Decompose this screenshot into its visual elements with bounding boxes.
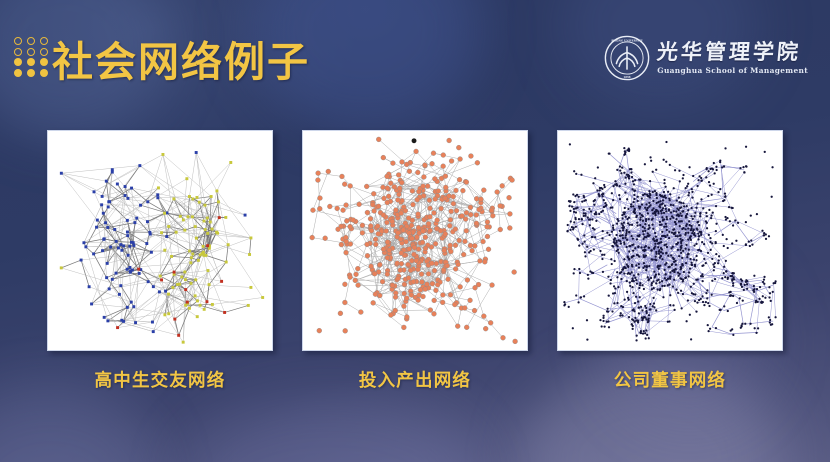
- background-blob: [0, 390, 160, 462]
- peking-university-seal-icon: PEKING UNIVERSITY 1898: [604, 35, 650, 81]
- panel-caption: 公司董事网络: [614, 367, 726, 392]
- dot-grid-icon: [13, 37, 49, 77]
- network-examples-row: 高中生交友网络 投入产出网络 公司董事网络: [47, 130, 783, 392]
- network-diagram-frame: [557, 130, 783, 351]
- corporate-board-network-diagram: [558, 131, 782, 350]
- high-school-friendship-network-diagram: [48, 131, 272, 350]
- logo-name-en: Guanghua School of Management: [657, 66, 808, 75]
- logo-text-block: 光华管理学院 Guanghua School of Management: [657, 41, 808, 75]
- logo-name-cn: 光华管理学院: [656, 41, 809, 63]
- background-blob: [180, 395, 480, 462]
- panel-caption: 投入产出网络: [359, 367, 471, 392]
- network-diagram-frame: [302, 130, 528, 351]
- network-panel-friendship[interactable]: 高中生交友网络: [47, 130, 273, 392]
- input-output-network-diagram: [303, 131, 527, 350]
- network-diagram-frame: [47, 130, 273, 351]
- network-panel-input-output[interactable]: 投入产出网络: [302, 130, 528, 392]
- slide-canvas: 社会网络例子 PEKING UNIVERSITY 1898 光华管理学院: [0, 0, 830, 462]
- network-panel-board[interactable]: 公司董事网络: [557, 130, 783, 392]
- svg-text:PEKING UNIVERSITY: PEKING UNIVERSITY: [612, 39, 644, 42]
- guanghua-logo: PEKING UNIVERSITY 1898 光华管理学院 Guanghua S…: [604, 32, 808, 84]
- svg-text:1898: 1898: [624, 76, 631, 79]
- page-title: 社会网络例子: [52, 28, 310, 88]
- slide-header: 社会网络例子 PEKING UNIVERSITY 1898 光华管理学院: [0, 0, 830, 112]
- panel-caption: 高中生交友网络: [95, 367, 226, 392]
